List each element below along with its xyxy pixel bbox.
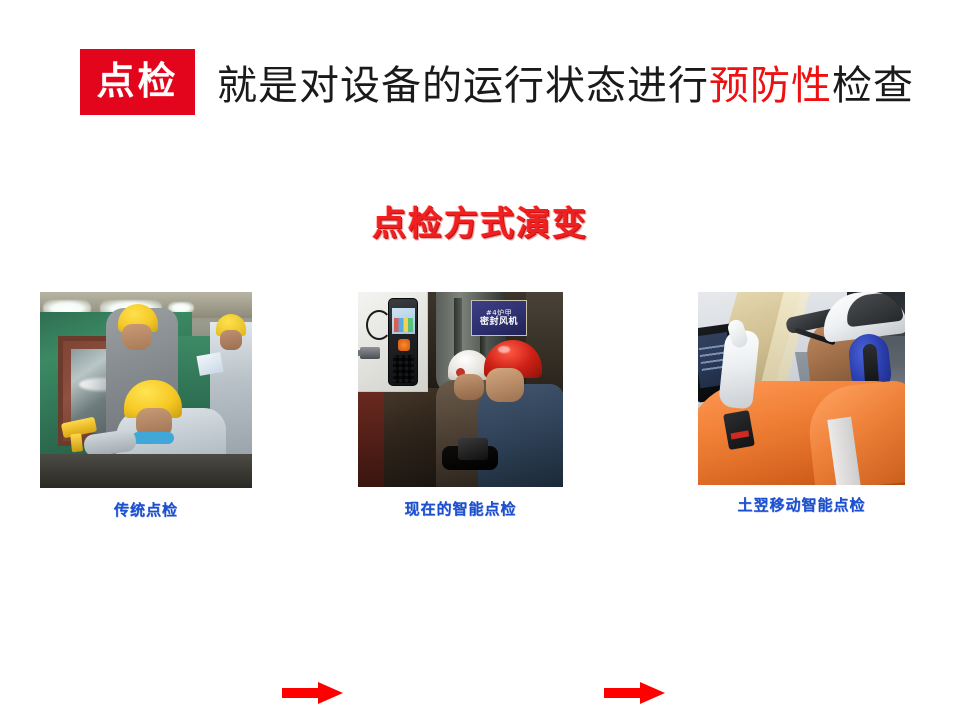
pda-navigation-key [398, 339, 410, 351]
equipment-sign-line1: #4炉甲 [486, 310, 512, 317]
equipment-sign-line2: 密封风机 [480, 318, 518, 327]
pda-screen [392, 308, 415, 334]
headline-text-highlight: 预防性 [709, 64, 832, 108]
headline-text: 就是对设备的运行状态进行预防性检查 [217, 53, 914, 111]
photo-mobile-smart-inspection [698, 292, 905, 485]
worker-face [122, 324, 152, 350]
floor-band [40, 454, 252, 488]
caption-current-smart: 现在的智能点检 [358, 498, 563, 519]
red-panel [358, 388, 384, 487]
flow-arrow-2 [604, 681, 666, 705]
flow-step-current-smart: #4炉甲 密封风机 [358, 292, 563, 519]
pda-inset-panel [358, 292, 428, 392]
probe-sensor-icon [360, 347, 380, 359]
clipboard-icon [196, 352, 223, 376]
handheld-device [458, 438, 488, 460]
pda-keypad [393, 355, 414, 383]
flow-arrow-1 [282, 681, 344, 705]
headline-text-before: 就是对设备的运行状态进行 [217, 64, 709, 108]
photo-current-smart-inspection: #4炉甲 密封风机 [358, 292, 563, 487]
arrow-right-icon [604, 681, 666, 705]
headline: 点检 就是对设备的运行状态进行预防性检查 [80, 46, 914, 118]
photo-traditional-inspection [40, 292, 252, 488]
arrow-right-icon [282, 681, 344, 705]
worker-collar [132, 432, 174, 444]
worker-face [220, 330, 242, 350]
flow-step-mobile-smart: 土翌移动智能点检 [698, 292, 905, 515]
worker-face [454, 374, 484, 400]
flow-step-traditional: 传统点检 [40, 292, 252, 520]
headline-text-after: 检查 [832, 64, 914, 108]
pda-terminal-icon [388, 298, 418, 386]
caption-traditional: 传统点检 [40, 499, 252, 520]
slide-root: 点检 就是对设备的运行状态进行预防性检查 点检方式演变 [0, 0, 960, 533]
evolution-flow: 传统点检 #4炉甲 密封风机 [0, 292, 960, 502]
headline-badge: 点检 [80, 49, 195, 115]
equipment-sign: #4炉甲 密封风机 [471, 300, 527, 336]
section-subtitle: 点检方式演变 [0, 196, 960, 245]
caption-mobile-smart: 土翌移动智能点检 [698, 494, 905, 515]
worker-face [486, 368, 524, 402]
